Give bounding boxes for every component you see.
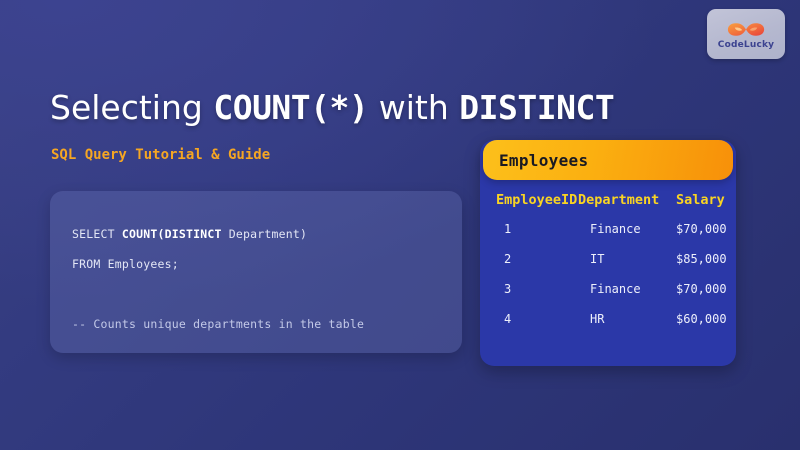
title-part-0: Selecting: [50, 88, 213, 127]
title-part-3: DISTINCT: [459, 88, 614, 127]
code-line-spacer: [72, 279, 440, 309]
table-row: 3 Finance $70,000: [480, 274, 755, 304]
cell-department: HR: [578, 312, 676, 326]
cell-salary: $70,000: [676, 282, 755, 296]
column-header-salary: Salary: [676, 192, 755, 208]
cell-department: IT: [578, 252, 676, 266]
table-title-label: Employees: [499, 151, 588, 170]
code-line-2: FROM Employees;: [72, 249, 440, 279]
cell-employeeid: 3: [480, 282, 578, 296]
code-line-comment: -- Counts unique departments in the tabl…: [72, 309, 440, 339]
title-part-1: COUNT(*): [213, 88, 368, 127]
cell-department: Finance: [578, 282, 676, 296]
cell-employeeid: 4: [480, 312, 578, 326]
table-row: 1 Finance $70,000: [480, 214, 755, 244]
infinity-icon: [726, 19, 766, 40]
employees-table-grid: EmployeeID Department Salary 1 Finance $…: [480, 186, 755, 356]
cell-department: Finance: [578, 222, 676, 236]
code-seg-count: COUNT(: [122, 227, 165, 241]
cell-employeeid: 1: [480, 222, 578, 236]
cell-salary: $85,000: [676, 252, 755, 266]
cell-salary: $60,000: [676, 312, 755, 326]
code-line-1: SELECT COUNT(DISTINCT Department): [72, 219, 440, 249]
page-subtitle: SQL Query Tutorial & Guide: [51, 147, 270, 163]
table-title-pill: Employees: [483, 140, 733, 180]
column-header-employeeid: EmployeeID: [480, 192, 578, 208]
page-title: Selecting COUNT(*) with DISTINCT: [50, 88, 614, 127]
code-seg-select: SELECT: [72, 227, 122, 241]
column-header-department: Department: [578, 192, 676, 208]
slide-canvas: CodeLucky Selecting COUNT(*) with DISTIN…: [0, 0, 800, 450]
logo-wordmark: CodeLucky: [718, 41, 774, 50]
code-seg-distinct: DISTINCT: [165, 227, 222, 241]
codelucky-logo-badge: CodeLucky: [707, 9, 785, 59]
cell-employeeid: 2: [480, 252, 578, 266]
cell-salary: $70,000: [676, 222, 755, 236]
title-part-2: with: [368, 88, 459, 127]
table-header-row: EmployeeID Department Salary: [480, 186, 755, 214]
sql-code-card: SELECT COUNT(DISTINCT Department) FROM E…: [50, 191, 462, 353]
code-seg-department: Department): [222, 227, 307, 241]
table-row: 4 HR $60,000: [480, 304, 755, 334]
table-row: 2 IT $85,000: [480, 244, 755, 274]
